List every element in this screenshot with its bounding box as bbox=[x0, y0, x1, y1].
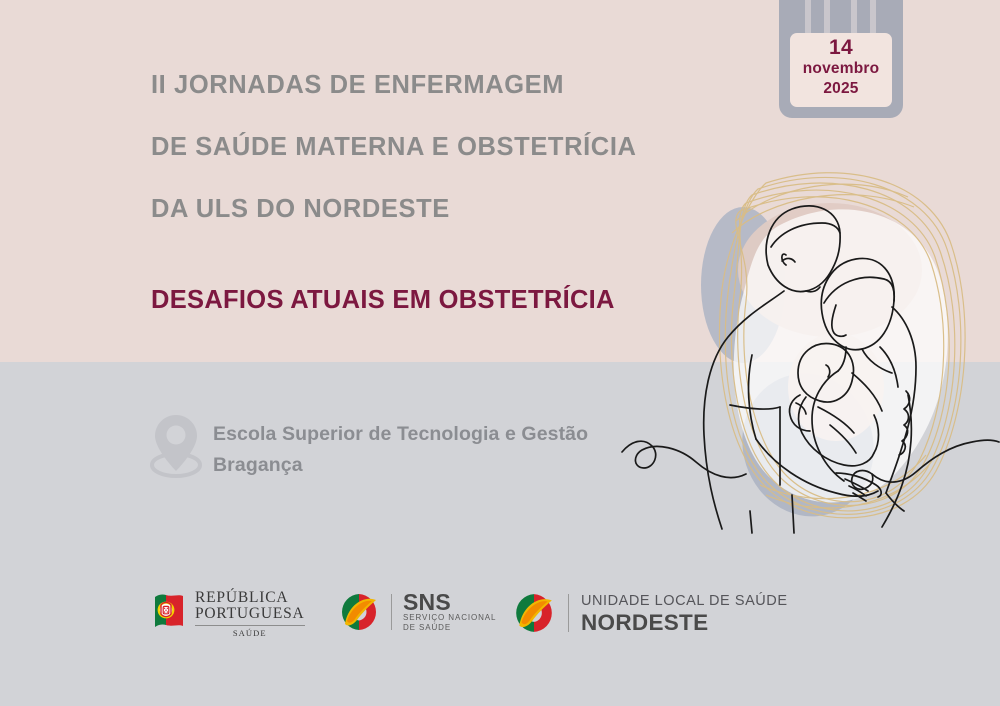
logo-bar: REPÚBLICA PORTUGUESA SAÚDE SNS SERVIÇO N… bbox=[0, 585, 1000, 655]
uls-line-1: UNIDADE LOCAL DE SAÚDE bbox=[581, 592, 788, 610]
uls-divider bbox=[568, 594, 569, 632]
rp-divider bbox=[195, 625, 305, 626]
uls-wordmark: UNIDADE LOCAL DE SAÚDE NORDESTE bbox=[581, 592, 788, 635]
sns-line-2: SERVIÇO NACIONAL bbox=[403, 613, 496, 623]
uls-nordeste-logo: UNIDADE LOCAL DE SAÚDE NORDESTE bbox=[512, 591, 788, 635]
rp-line-1: REPÚBLICA bbox=[195, 590, 305, 606]
event-poster: II JORNADAS DE ENFERMAGEM DE SAÚDE MATER… bbox=[0, 0, 1000, 706]
title-line-3: DA ULS DO NORDESTE bbox=[151, 196, 711, 223]
title-line-2: DE SAÚDE MATERNA E OBSTETRÍCIA bbox=[151, 134, 711, 161]
date-day: 14 bbox=[790, 36, 892, 59]
sns-divider bbox=[391, 594, 392, 630]
venue-line-1: Escola Superior de Tecnologia e Gestão bbox=[213, 419, 588, 450]
sns-line-3: DE SAÚDE bbox=[403, 623, 496, 633]
date-month: novembro bbox=[790, 59, 892, 79]
date-year: 2025 bbox=[790, 79, 892, 99]
sns-line-1: SNS bbox=[403, 591, 496, 613]
sns-swirl-icon bbox=[338, 591, 380, 633]
sns-logo: SNS SERVIÇO NACIONAL DE SAÚDE bbox=[338, 591, 496, 633]
poster-title: II JORNADAS DE ENFERMAGEM DE SAÚDE MATER… bbox=[151, 72, 711, 222]
calendar-page: 14 novembro 2025 bbox=[790, 33, 892, 107]
venue-line-2: Bragança bbox=[213, 450, 588, 481]
rp-line-2: PORTUGUESA bbox=[195, 606, 305, 622]
rp-line-3: SAÚDE bbox=[195, 628, 305, 638]
venue-address: Escola Superior de Tecnologia e Gestão B… bbox=[213, 419, 588, 481]
portuguese-shield-icon bbox=[152, 592, 186, 636]
location-pin-icon bbox=[150, 409, 202, 481]
republica-portuguesa-logo: REPÚBLICA PORTUGUESA SAÚDE bbox=[152, 590, 305, 638]
title-line-1: II JORNADAS DE ENFERMAGEM bbox=[151, 72, 711, 99]
republica-portuguesa-wordmark: REPÚBLICA PORTUGUESA SAÚDE bbox=[195, 590, 305, 638]
decorative-squiggle-line bbox=[620, 390, 1000, 510]
uls-swirl-icon bbox=[512, 591, 556, 635]
date-badge: 14 novembro 2025 bbox=[779, 0, 903, 118]
venue-block: Escola Superior de Tecnologia e Gestão B… bbox=[150, 409, 588, 481]
sns-wordmark: SNS SERVIÇO NACIONAL DE SAÚDE bbox=[403, 591, 496, 633]
uls-line-2: NORDESTE bbox=[581, 610, 788, 635]
poster-subtitle: DESAFIOS ATUAIS EM OBSTETRÍCIA bbox=[151, 287, 615, 314]
